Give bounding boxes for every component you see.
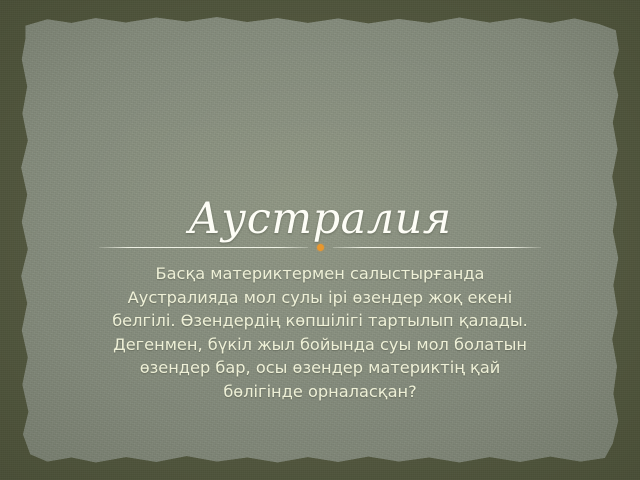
divider-rule-left <box>99 247 308 248</box>
presentation-slide: Аустралия Басқа материктермен салыстырға… <box>0 0 640 480</box>
title-divider <box>99 243 541 251</box>
body-line: Дегенмен, бүкіл жыл бойында суы мол бола… <box>70 333 570 357</box>
body-line: Басқа материктермен салыстырғанда <box>70 262 570 286</box>
body-line: өзендер бар, осы өзендер материктің қай <box>70 356 570 380</box>
divider-rule-right <box>333 247 542 248</box>
divider-accent-dot-icon <box>317 244 324 251</box>
slide-content: Аустралия Басқа материктермен салыстырға… <box>0 0 640 480</box>
slide-body-text: Басқа материктермен салыстырғанда Аустра… <box>70 262 570 403</box>
slide-title: Аустралия <box>0 197 640 242</box>
body-line: белгілі. Өзендердің көпшілігі тартылып қ… <box>70 309 570 333</box>
body-line: Аустралияда мол сулы ірі өзендер жоқ еке… <box>70 286 570 310</box>
body-line: бөлігінде орналасқан? <box>70 380 570 404</box>
